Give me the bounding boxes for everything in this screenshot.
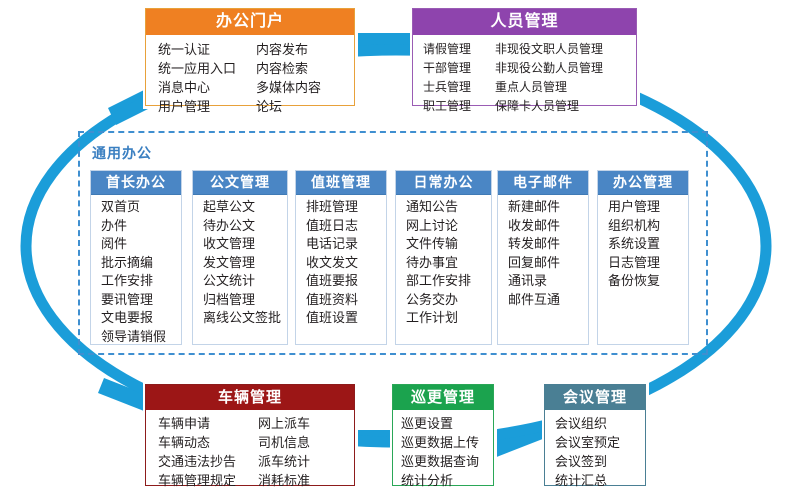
list-item[interactable]: 网上讨论 [406, 217, 491, 236]
diagram-canvas: 办公门户 统一认证 统一应用入口 消息中心 用户管理 内容发布 内容检索 多媒体… [0, 0, 790, 500]
card-meeting-management-title: 会议管理 [545, 385, 645, 410]
list-item[interactable]: 起草公文 [203, 198, 287, 217]
list-item[interactable]: 用户管理 [608, 198, 688, 217]
list-item[interactable]: 工作安排 [101, 272, 181, 291]
list-item[interactable]: 排班管理 [306, 198, 386, 217]
card-meeting-management[interactable]: 会议管理 会议组织 会议室预定 会议签到 统计汇总 [544, 384, 646, 486]
card-document-management[interactable]: 公文管理 起草公文 待办公文 收文管理 发文管理 公文统计 归档管理 离线公文签… [192, 170, 288, 345]
list-item[interactable]: 双首页 [101, 198, 181, 217]
card-patrol-management[interactable]: 巡更管理 巡更设置 巡更数据上传 巡更数据查询 统计分析 [392, 384, 494, 486]
list-item[interactable]: 离线公文签批 [203, 309, 287, 328]
card-daily-office[interactable]: 日常办公 通知公告 网上讨论 文件传输 待办事宜 部工作安排 公务交办 工作计划 [395, 170, 492, 345]
card-chief-office[interactable]: 首长办公 双首页 办件 阅件 批示摘编 工作安排 要讯管理 文电要报 领导请销假 [90, 170, 182, 345]
list-item[interactable]: 统一应用入口 [158, 59, 256, 78]
card-daily-office-title: 日常办公 [396, 171, 491, 195]
list-item[interactable]: 阅件 [101, 235, 181, 254]
list-item[interactable]: 公务交办 [406, 291, 491, 310]
list-item[interactable]: 车辆管理规定 [158, 471, 258, 490]
list-item[interactable]: 批示摘编 [101, 254, 181, 273]
list-item[interactable]: 干部管理 [423, 59, 495, 78]
list-item[interactable]: 通知公告 [406, 198, 491, 217]
card-vehicle-management-body: 车辆申请 车辆动态 交通违法抄告 车辆管理规定 网上派车 司机信息 派车统计 消… [146, 410, 354, 495]
list-item[interactable]: 收文发文 [306, 254, 386, 273]
list-item[interactable]: 办件 [101, 217, 181, 236]
card-office-admin-title: 办公管理 [598, 171, 688, 195]
list-item[interactable]: 公文统计 [203, 272, 287, 291]
card-chief-office-body: 双首页 办件 阅件 批示摘编 工作安排 要讯管理 文电要报 领导请销假 [91, 195, 181, 350]
list-item[interactable]: 值班资料 [306, 291, 386, 310]
card-vehicle-management-col2: 网上派车 司机信息 派车统计 消耗标准 [258, 414, 310, 490]
list-item[interactable]: 非现役文职人员管理 [495, 40, 603, 59]
list-item[interactable]: 邮件互通 [508, 291, 588, 310]
list-item[interactable]: 统计分析 [401, 471, 479, 490]
card-office-portal-title: 办公门户 [146, 9, 354, 35]
card-duty-management-body: 排班管理 值班日志 电话记录 收文发文 值班要报 值班资料 值班设置 [296, 195, 386, 332]
card-personnel-management-col1: 请假管理 干部管理 士兵管理 职工管理 [423, 40, 495, 116]
card-email-title: 电子邮件 [498, 171, 588, 195]
list-item[interactable]: 领导请销假 [101, 328, 181, 347]
card-patrol-management-body: 巡更设置 巡更数据上传 巡更数据查询 统计分析 [393, 410, 493, 495]
list-item[interactable]: 多媒体内容 [256, 78, 321, 97]
card-office-portal-body: 统一认证 统一应用入口 消息中心 用户管理 内容发布 内容检索 多媒体内容 论坛 [146, 35, 354, 122]
card-patrol-management-col1: 巡更设置 巡更数据上传 巡更数据查询 统计分析 [401, 414, 479, 490]
card-personnel-management[interactable]: 人员管理 请假管理 干部管理 士兵管理 职工管理 非现役文职人员管理 非现役公勤… [412, 8, 637, 106]
card-office-portal-col2: 内容发布 内容检索 多媒体内容 论坛 [256, 40, 321, 116]
list-item[interactable]: 司机信息 [258, 433, 310, 452]
list-item[interactable]: 车辆动态 [158, 433, 258, 452]
list-item[interactable]: 论坛 [256, 97, 321, 116]
card-office-portal-col1: 统一认证 统一应用入口 消息中心 用户管理 [158, 40, 256, 116]
list-item[interactable]: 统计汇总 [555, 471, 620, 490]
list-item[interactable]: 重点人员管理 [495, 78, 603, 97]
list-item[interactable]: 值班要报 [306, 272, 386, 291]
card-office-admin[interactable]: 办公管理 用户管理 组织机构 系统设置 日志管理 备份恢复 [597, 170, 689, 345]
card-patrol-management-title: 巡更管理 [393, 385, 493, 410]
list-item[interactable]: 值班日志 [306, 217, 386, 236]
list-item[interactable]: 巡更数据查询 [401, 452, 479, 471]
list-item[interactable]: 待办事宜 [406, 254, 491, 273]
list-item[interactable]: 统一认证 [158, 40, 256, 59]
card-office-portal[interactable]: 办公门户 统一认证 统一应用入口 消息中心 用户管理 内容发布 内容检索 多媒体… [145, 8, 355, 106]
list-item[interactable]: 电话记录 [306, 235, 386, 254]
card-personnel-management-title: 人员管理 [413, 9, 636, 35]
card-email[interactable]: 电子邮件 新建邮件 收发邮件 转发邮件 回复邮件 通讯录 邮件互通 [497, 170, 589, 345]
card-vehicle-management[interactable]: 车辆管理 车辆申请 车辆动态 交通违法抄告 车辆管理规定 网上派车 司机信息 派… [145, 384, 355, 486]
list-item[interactable]: 发文管理 [203, 254, 287, 273]
card-document-management-body: 起草公文 待办公文 收文管理 发文管理 公文统计 归档管理 离线公文签批 [193, 195, 287, 332]
card-daily-office-body: 通知公告 网上讨论 文件传输 待办事宜 部工作安排 公务交办 工作计划 [396, 195, 491, 332]
list-item[interactable]: 系统设置 [608, 235, 688, 254]
list-item[interactable]: 回复邮件 [508, 254, 588, 273]
list-item[interactable]: 组织机构 [608, 217, 688, 236]
card-duty-management[interactable]: 值班管理 排班管理 值班日志 电话记录 收文发文 值班要报 值班资料 值班设置 [295, 170, 387, 345]
list-item[interactable]: 转发邮件 [508, 235, 588, 254]
card-personnel-management-col2: 非现役文职人员管理 非现役公勤人员管理 重点人员管理 保障卡人员管理 [495, 40, 603, 116]
list-item[interactable]: 收文管理 [203, 235, 287, 254]
list-item[interactable]: 待办公文 [203, 217, 287, 236]
list-item[interactable]: 部工作安排 [406, 272, 491, 291]
list-item[interactable]: 非现役公勤人员管理 [495, 59, 603, 78]
list-item[interactable]: 保障卡人员管理 [495, 97, 603, 116]
list-item[interactable]: 会议签到 [555, 452, 620, 471]
list-item[interactable]: 要讯管理 [101, 291, 181, 310]
list-item[interactable]: 巡更设置 [401, 414, 479, 433]
list-item[interactable]: 收发邮件 [508, 217, 588, 236]
list-item[interactable]: 车辆申请 [158, 414, 258, 433]
list-item[interactable]: 备份恢复 [608, 272, 688, 291]
list-item[interactable]: 网上派车 [258, 414, 310, 433]
card-office-admin-body: 用户管理 组织机构 系统设置 日志管理 备份恢复 [598, 195, 688, 295]
list-item[interactable]: 会议组织 [555, 414, 620, 433]
list-item[interactable]: 值班设置 [306, 309, 386, 328]
list-item[interactable]: 日志管理 [608, 254, 688, 273]
list-item[interactable]: 文件传输 [406, 235, 491, 254]
card-personnel-management-body: 请假管理 干部管理 士兵管理 职工管理 非现役文职人员管理 非现役公勤人员管理 … [413, 35, 636, 122]
list-item[interactable]: 消耗标准 [258, 471, 310, 490]
list-item[interactable]: 消息中心 [158, 78, 256, 97]
card-vehicle-management-title: 车辆管理 [146, 385, 354, 410]
list-item[interactable]: 新建邮件 [508, 198, 588, 217]
card-meeting-management-body: 会议组织 会议室预定 会议签到 统计汇总 [545, 410, 645, 495]
list-item[interactable]: 士兵管理 [423, 78, 495, 97]
list-item[interactable]: 内容发布 [256, 40, 321, 59]
list-item[interactable]: 请假管理 [423, 40, 495, 59]
list-item[interactable]: 工作计划 [406, 309, 491, 328]
card-duty-management-title: 值班管理 [296, 171, 386, 195]
list-item[interactable]: 用户管理 [158, 97, 256, 116]
list-item[interactable]: 会议室预定 [555, 433, 620, 452]
card-document-management-title: 公文管理 [193, 171, 287, 195]
list-item[interactable]: 归档管理 [203, 291, 287, 310]
list-item[interactable]: 交通违法抄告 [158, 452, 258, 471]
general-office-label: 通用办公 [92, 143, 152, 163]
card-meeting-management-col1: 会议组织 会议室预定 会议签到 统计汇总 [555, 414, 620, 490]
list-item[interactable]: 文电要报 [101, 309, 181, 328]
list-item[interactable]: 巡更数据上传 [401, 433, 479, 452]
list-item[interactable]: 通讯录 [508, 272, 588, 291]
list-item[interactable]: 内容检索 [256, 59, 321, 78]
card-email-body: 新建邮件 收发邮件 转发邮件 回复邮件 通讯录 邮件互通 [498, 195, 588, 313]
card-chief-office-title: 首长办公 [91, 171, 181, 195]
card-vehicle-management-col1: 车辆申请 车辆动态 交通违法抄告 车辆管理规定 [158, 414, 258, 490]
list-item[interactable]: 职工管理 [423, 97, 495, 116]
list-item[interactable]: 派车统计 [258, 452, 310, 471]
